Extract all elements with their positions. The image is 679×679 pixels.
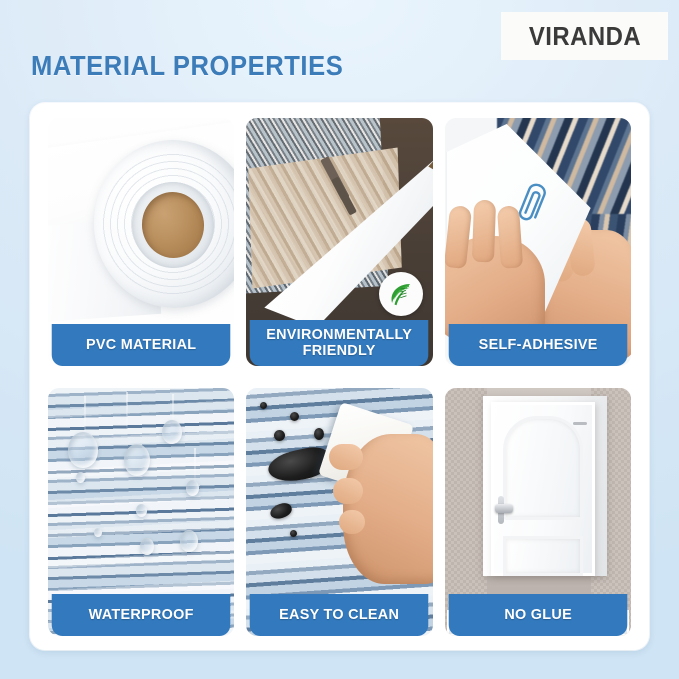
brand-logo-box: VIRANDA [501,12,668,60]
eco-leaf-badge [379,272,423,316]
door-handle-icon [495,504,513,513]
feature-label-pvc-material: PVC MATERIAL [52,324,231,366]
header: MATERIAL PROPERTIES VIRANDA [0,0,679,103]
feature-tile-no-glue[interactable]: NO GLUE [445,388,631,636]
feature-label-line1: ENVIRONMENTALLY [267,326,413,343]
feature-label-no-glue: NO GLUE [448,594,627,636]
hand-holding-cloth [343,434,433,584]
feature-label-line2: FRIENDLY [303,342,376,359]
leaf-icon [386,279,416,309]
feature-label-easy-to-clean: EASY TO CLEAN [250,594,429,636]
feature-label-waterproof: WATERPROOF [52,594,231,636]
feature-tile-easy-to-clean[interactable]: EASY TO CLEAN [246,388,432,636]
feature-tile-environmentally-friendly[interactable]: ENVIRONMENTALLY FRIENDLY [246,118,432,366]
feature-tile-pvc-material[interactable]: PVC MATERIAL [48,118,234,366]
feature-label-environmentally-friendly: ENVIRONMENTALLY FRIENDLY [250,320,429,366]
feature-grid: PVC MATERIAL [48,118,631,636]
feature-tile-waterproof[interactable]: WATERPROOF [48,388,234,636]
page-title: MATERIAL PROPERTIES [31,50,343,82]
brand-name: VIRANDA [528,21,640,52]
feature-card: PVC MATERIAL [30,103,649,650]
feature-label-self-adhesive: SELF-ADHESIVE [448,324,627,366]
feature-tile-self-adhesive[interactable]: SELF-ADHESIVE [445,118,631,366]
